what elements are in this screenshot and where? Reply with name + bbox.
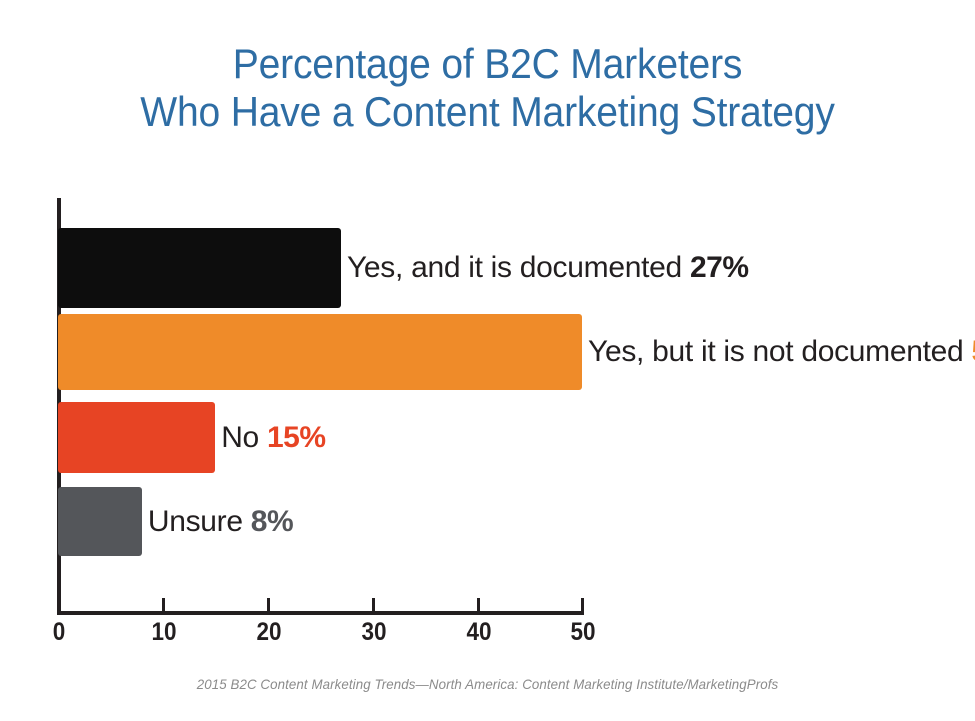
bar-category-label: Yes, and it is documented (347, 251, 682, 284)
bar-value-label: 50% (972, 335, 975, 368)
bar-yes-not-documented (58, 314, 582, 390)
x-axis-tick-label-4: 40 (452, 618, 506, 647)
plot-area: 0 10 20 30 40 50 Yes, and it is document… (0, 0, 975, 721)
x-axis-tick-1 (162, 598, 165, 612)
bar-label-unsure: Unsure 8% (148, 505, 293, 539)
bar-category-label: No (221, 421, 259, 454)
bar-no (58, 402, 215, 473)
x-axis-tick-5 (581, 598, 584, 612)
x-axis-tick-label-1: 10 (137, 618, 191, 647)
x-axis-tick-2 (267, 598, 270, 612)
bar-label-yes-documented: Yes, and it is documented 27% (347, 251, 749, 285)
bar-yes-documented (58, 228, 341, 308)
source-note: 2015 B2C Content Marketing Trends—North … (24, 676, 950, 692)
bar-unsure (58, 487, 142, 556)
x-axis-tick-label-5: 50 (556, 618, 610, 647)
bar-value-label: 27% (690, 251, 749, 284)
bar-category-label: Unsure (148, 505, 243, 538)
bar-value-label: 8% (251, 505, 293, 538)
x-axis-tick-label-3: 30 (347, 618, 401, 647)
bar-label-yes-not-documented: Yes, but it is not documented 50% (588, 335, 975, 369)
x-axis-tick-label-0: 0 (32, 618, 86, 647)
x-axis-tick-3 (372, 598, 375, 612)
x-axis-tick-4 (477, 598, 480, 612)
bar-label-no: No 15% (221, 421, 325, 455)
bar-category-label: Yes, but it is not documented (588, 335, 963, 368)
x-axis-tick-0 (57, 598, 60, 612)
bar-value-label: 15% (267, 421, 326, 454)
x-axis-tick-label-2: 20 (242, 618, 296, 647)
x-axis-line (57, 611, 584, 615)
